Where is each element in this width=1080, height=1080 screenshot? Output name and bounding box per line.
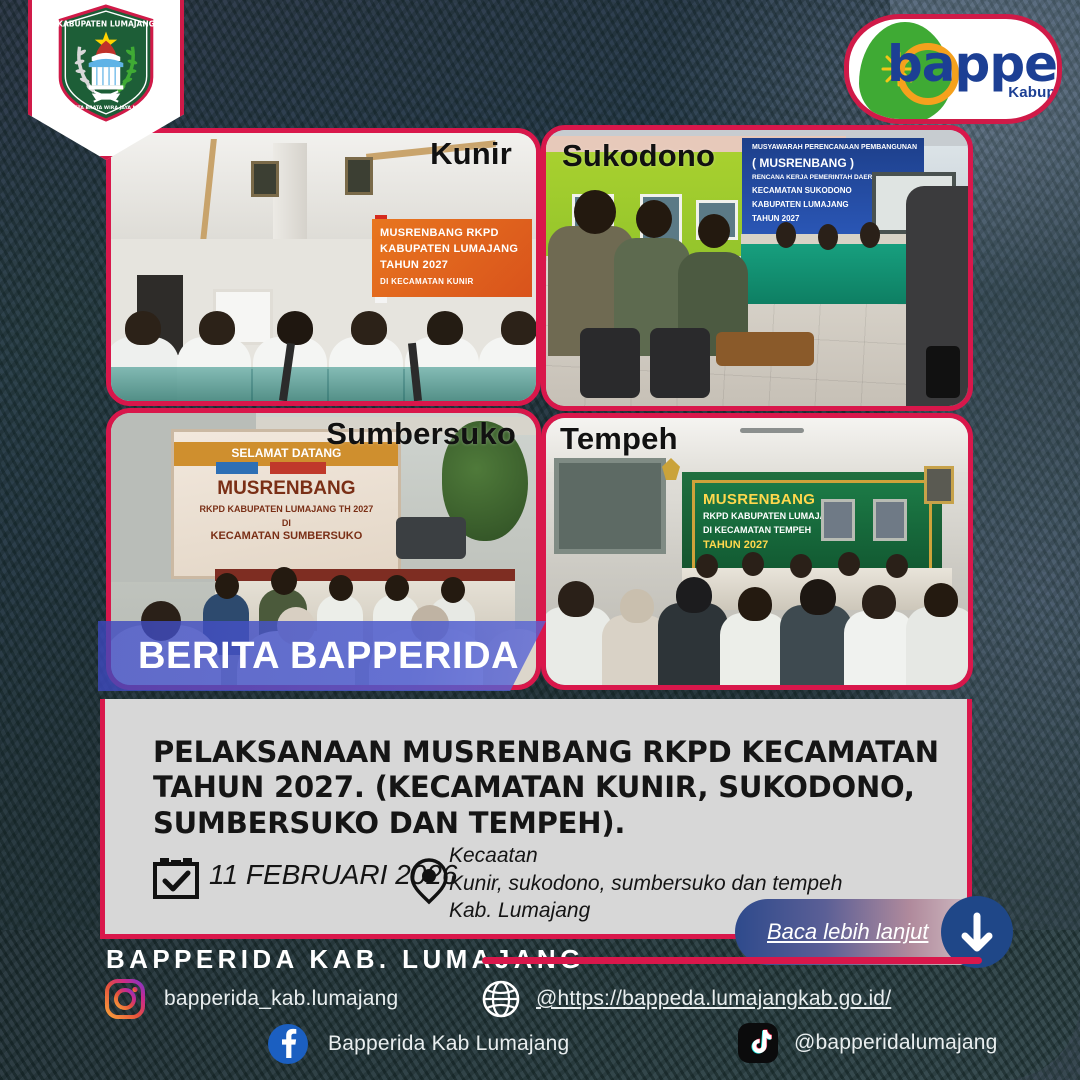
logo-wordmark: bapperida	[887, 39, 1062, 89]
photo-image-kunir: MUSRENBANG RKPD KABUPATEN LUMAJANG TAHUN…	[111, 133, 536, 401]
news-meta-row: 11 FEBRUARI 2026 Kecaatan Kunir, sukodon…	[153, 843, 953, 927]
photo-card-tempeh[interactable]: MUSRENBANG RKPD KABUPATEN LUMAJANG DI KE…	[541, 413, 973, 690]
footer-link-instagram[interactable]: bapperida_kab.lumajang	[104, 978, 398, 1020]
berita-bapperida-banner: BERITA BAPPERIDA	[98, 621, 546, 691]
photo-image-tempeh: MUSRENBANG RKPD KABUPATEN LUMAJANG DI KE…	[546, 418, 968, 685]
map-pin-icon	[409, 857, 449, 905]
footer-divider-rule	[482, 957, 982, 964]
svg-text:AMRETA BRATA WIRA JAYA MUKTI: AMRETA BRATA WIRA JAYA MUKTI	[62, 105, 149, 111]
berita-banner-label: BERITA BAPPERIDA	[138, 635, 519, 678]
instagram-icon	[104, 978, 146, 1020]
footer-link-facebook[interactable]: Bapperida Kab Lumajang	[268, 1024, 569, 1064]
bapperida-logo: bapperida Kabupaten Lumajang	[844, 14, 1062, 124]
news-content-card: PELAKSANAAN MUSRENBANG RKPD KECAMATAN TA…	[100, 699, 972, 939]
footer-link-tiktok[interactable]: @bapperidalumajang	[738, 1023, 998, 1063]
footer-facebook-label: Bapperida Kab Lumajang	[328, 1032, 569, 1056]
tiktok-icon	[738, 1023, 778, 1063]
svg-text:KABUPATEN LUMAJANG: KABUPATEN LUMAJANG	[57, 19, 155, 28]
photo-label-sumbersuko: Sumbersuko	[326, 416, 516, 452]
photo-label-sukodono: Sukodono	[562, 138, 715, 174]
news-title: PELAKSANAAN MUSRENBANG RKPD KECAMATAN TA…	[153, 735, 943, 841]
calendar-check-icon	[153, 857, 199, 899]
lumajang-regency-crest-icon: KABUPATEN LUMAJANG AMRETA B	[55, 4, 157, 122]
photo-label-tempeh: Tempeh	[560, 421, 678, 457]
photo-label-kunir: Kunir	[430, 136, 512, 172]
footer-link-website[interactable]: @https://bappeda.lumajangkab.go.id/	[480, 978, 891, 1020]
arrow-down-icon	[960, 912, 994, 952]
footer-instagram-label: bapperida_kab.lumajang	[164, 987, 398, 1011]
photo-card-kunir[interactable]: MUSRENBANG RKPD KABUPATEN LUMAJANG TAHUN…	[106, 128, 541, 406]
facebook-icon	[268, 1024, 308, 1064]
globe-icon	[480, 978, 522, 1020]
footer-tiktok-label: @bapperidalumajang	[794, 1031, 998, 1055]
read-more-label: Baca lebih lanjut	[767, 919, 928, 945]
photo-card-sukodono[interactable]: MUSYAWARAH PERENCANAAN PEMBANGUNAN ( MUS…	[541, 125, 973, 411]
footer-website-label: @https://bappeda.lumajangkab.go.id/	[536, 987, 891, 1011]
